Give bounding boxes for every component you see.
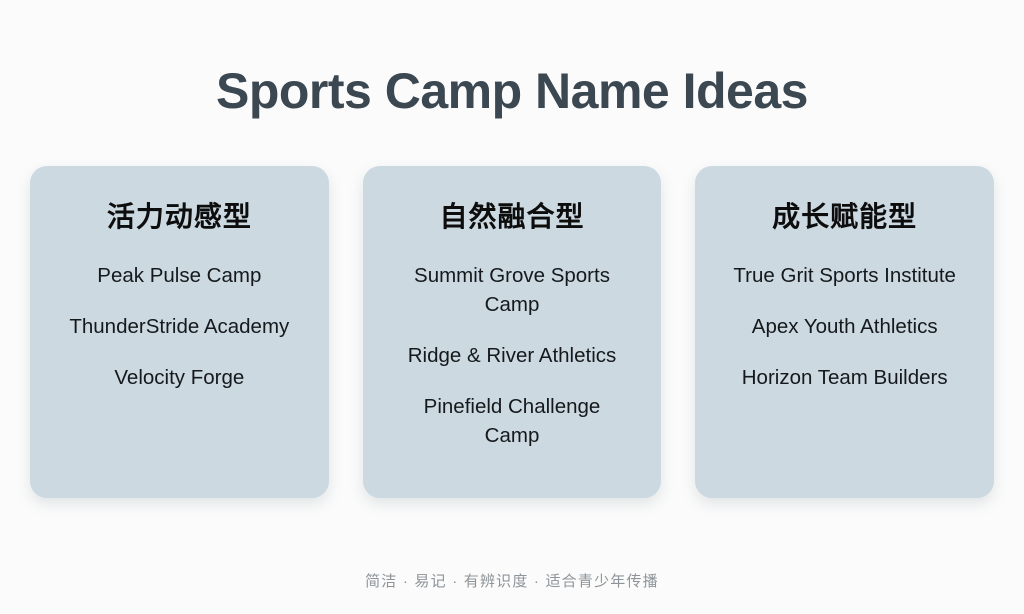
page-title: Sports Camp Name Ideas bbox=[216, 64, 808, 119]
card-nature: 自然融合型 Summit Grove Sports Camp Ridge & R… bbox=[363, 166, 662, 498]
list-item: Summit Grove Sports Camp bbox=[397, 261, 627, 319]
card-item-list: Peak Pulse Camp ThunderStride Academy Ve… bbox=[46, 244, 313, 392]
list-item: Ridge & River Athletics bbox=[408, 341, 617, 370]
card-item-list: True Grit Sports Institute Apex Youth At… bbox=[711, 244, 978, 392]
card-energy: 活力动感型 Peak Pulse Camp ThunderStride Acad… bbox=[30, 166, 329, 498]
card-growth: 成长赋能型 True Grit Sports Institute Apex Yo… bbox=[695, 166, 994, 498]
card-item-list: Summit Grove Sports Camp Ridge & River A… bbox=[379, 244, 646, 451]
list-item: True Grit Sports Institute bbox=[733, 261, 956, 290]
list-item: Horizon Team Builders bbox=[742, 363, 948, 392]
card-group: 活力动感型 Peak Pulse Camp ThunderStride Acad… bbox=[30, 166, 994, 498]
list-item: Apex Youth Athletics bbox=[752, 312, 938, 341]
card-heading: 自然融合型 bbox=[440, 200, 585, 234]
card-heading: 成长赋能型 bbox=[772, 200, 917, 234]
list-item: ThunderStride Academy bbox=[69, 312, 289, 341]
footer-note: 简洁 · 易记 · 有辨识度 · 适合青少年传播 bbox=[0, 570, 1024, 591]
list-item: Peak Pulse Camp bbox=[97, 261, 261, 290]
list-item: Pinefield Challenge Camp bbox=[397, 392, 627, 450]
card-heading: 活力动感型 bbox=[107, 200, 252, 234]
list-item: Velocity Forge bbox=[114, 363, 244, 392]
slide-container: Sports Camp Name Ideas 活力动感型 Peak Pulse … bbox=[0, 0, 1024, 614]
